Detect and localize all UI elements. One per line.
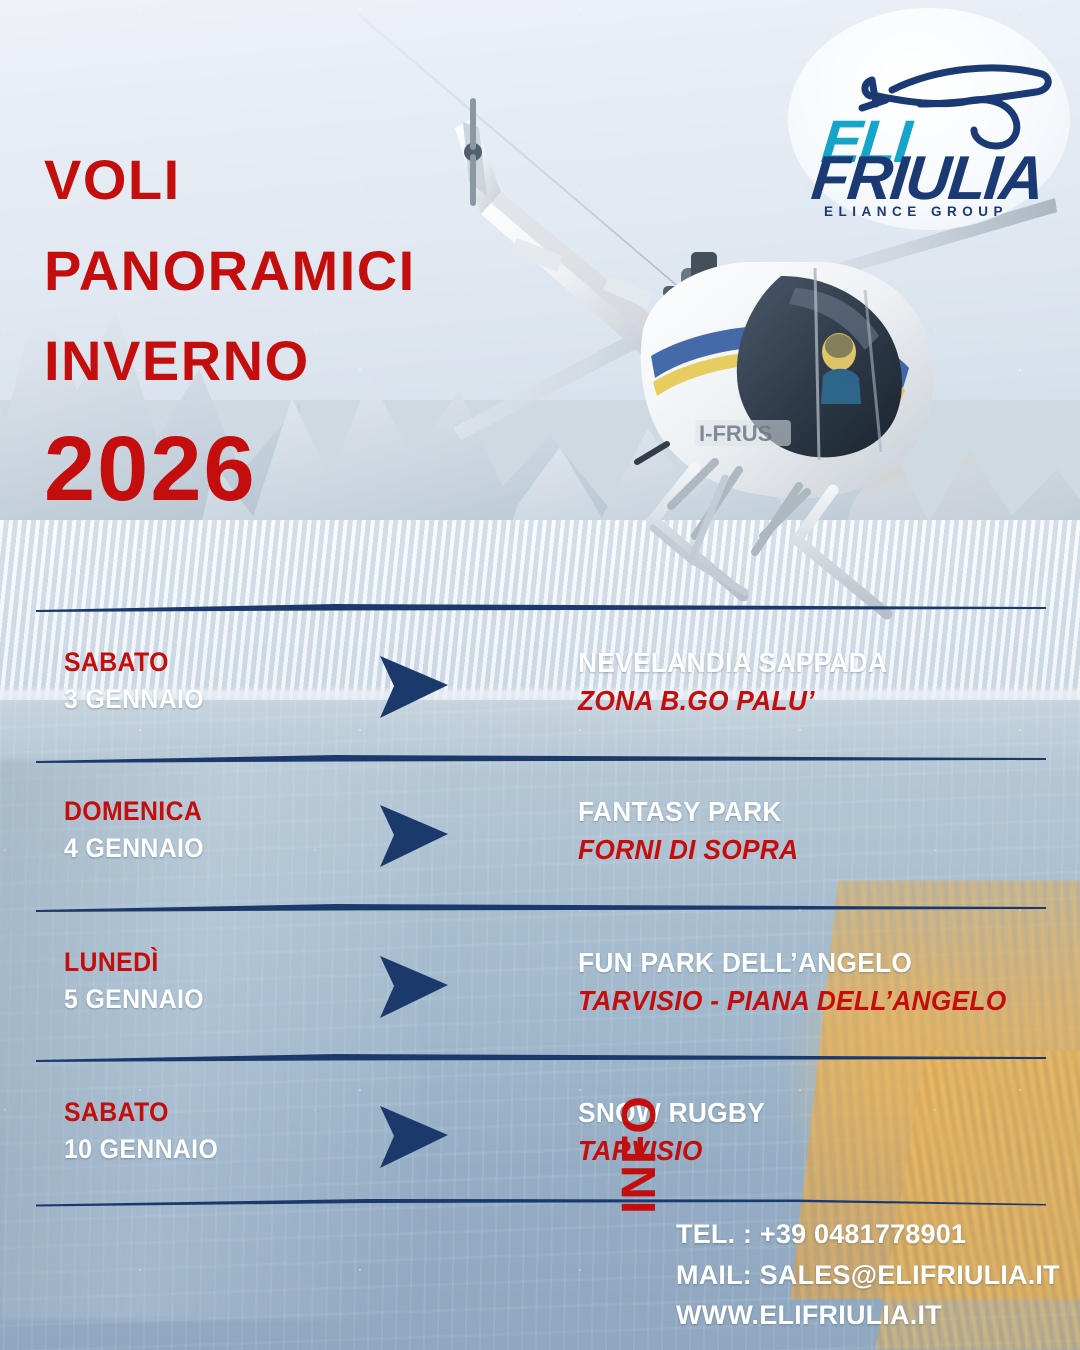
schedule-date: 3 GENNAIO [64, 681, 204, 718]
divider-line [36, 1051, 1046, 1063]
schedule-date: 10 GENNAIO [64, 1131, 218, 1168]
schedule-place: NEVELANDIA SAPPADA [578, 644, 887, 682]
schedule-location: ZONA B.GO PALU’ [578, 682, 887, 720]
schedule-location: TARVISIO [578, 1132, 765, 1170]
schedule-location: FORNI DI SOPRA [578, 831, 798, 869]
schedule-date-block: SABATO 10 GENNAIO [64, 1094, 232, 1167]
divider-line [36, 601, 1046, 613]
svg-text:I-FRUS: I-FRUS [699, 421, 772, 446]
chevron-right-arrow-icon [378, 801, 450, 871]
schedule-destination-block: FUN PARK DELL’ANGELO TARVISIO - PIANA DE… [578, 944, 1034, 1019]
schedule-date-block: SABATO 3 GENNAIO [64, 644, 216, 717]
schedule-location: TARVISIO - PIANA DELL’ANGELO [578, 982, 1007, 1020]
schedule-place: SNOW RUGBY [578, 1094, 765, 1132]
schedule-date: 4 GENNAIO [64, 830, 204, 867]
logo-text-friulia: FRIULIA [809, 148, 1046, 210]
schedule-row: LUNEDÌ 5 GENNAIO FUN PARK DELL’ANGELO TA… [0, 944, 1080, 1040]
schedule-row: DOMENICA 4 GENNAIO FANTASY PARK FORNI DI… [0, 793, 1080, 889]
schedule-day: DOMENICA [64, 793, 204, 830]
page-title: VOLI PANORAMICI INVERNO 2026 [44, 135, 416, 520]
schedule-date-block: DOMENICA 4 GENNAIO [64, 793, 216, 866]
schedule-day: SABATO [64, 1094, 218, 1131]
schedule-destination-block: NEVELANDIA SAPPADA ZONA B.GO PALU’ [578, 644, 907, 719]
chevron-right-arrow-icon [378, 652, 450, 722]
headline-line-1: VOLI [44, 135, 416, 226]
contact-website[interactable]: WWW.ELIFRIULIA.IT [676, 1295, 1060, 1336]
contact-lines: TEL. : +39 0481778901 MAIL: SALES@ELIFRI… [676, 1214, 1060, 1336]
schedule-date-block: LUNEDÌ 5 GENNAIO [64, 944, 216, 1017]
schedule-row: SABATO 3 GENNAIO NEVELANDIA SAPPADA ZONA… [0, 644, 1080, 740]
contact-info-block: INFO TEL. : +39 0481778901 MAIL: SALES@E… [598, 1212, 1068, 1342]
divider-line [36, 752, 1046, 764]
schedule-row: SABATO 10 GENNAIO SNOW RUGBY TARVISIO [0, 1094, 1080, 1190]
logo-tagline: ELIANCE GROUP [824, 204, 1008, 219]
headline-line-2: PANORAMICI [44, 226, 416, 317]
schedule-date: 5 GENNAIO [64, 981, 204, 1018]
schedule-place: FANTASY PARK [578, 793, 798, 831]
contact-telephone[interactable]: TEL. : +39 0481778901 [676, 1214, 1060, 1255]
info-label: INFO [616, 1095, 664, 1214]
poster: I-FRUS [0, 0, 1080, 1350]
divider-line [36, 1196, 1046, 1208]
brand-logo[interactable]: ELI FRIULIA ELIANCE GROUP [788, 8, 1070, 230]
contact-email[interactable]: MAIL: SALES@ELIFRIULIA.IT [676, 1255, 1060, 1296]
chevron-right-arrow-icon [378, 1102, 450, 1172]
schedule-destination-block: SNOW RUGBY TARVISIO [578, 1094, 777, 1169]
headline-line-3: INVERNO [44, 316, 416, 407]
schedule-day: LUNEDÌ [64, 944, 204, 981]
schedule-day: SABATO [64, 644, 204, 681]
headline-year: 2026 [44, 419, 416, 520]
divider-line [36, 901, 1046, 913]
schedule-destination-block: FANTASY PARK FORNI DI SOPRA [578, 793, 812, 868]
schedule-place: FUN PARK DELL’ANGELO [578, 944, 1007, 982]
chevron-right-arrow-icon [378, 952, 450, 1022]
